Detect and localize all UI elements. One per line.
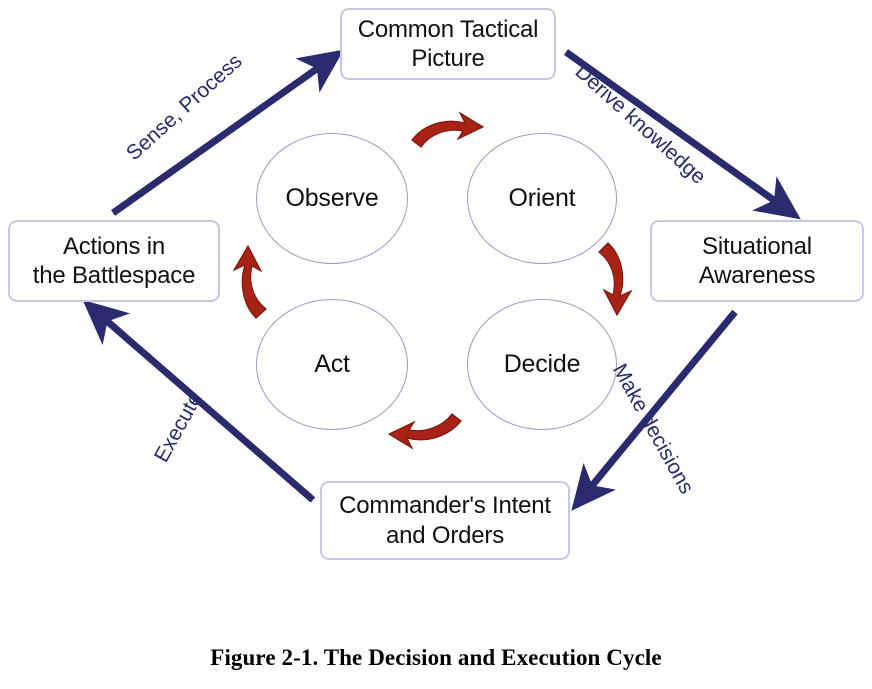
ooda-step-orient[interactable]: Orient xyxy=(467,133,617,264)
figure-caption: Figure 2-1. The Decision and Execution C… xyxy=(0,645,872,671)
decision-execution-cycle-figure: Common Tactical Picture Situational Awar… xyxy=(0,0,872,620)
ooda-step-label: Decide xyxy=(504,350,581,379)
node-situational-awareness[interactable]: Situational Awareness xyxy=(650,220,864,302)
ooda-step-observe[interactable]: Observe xyxy=(256,133,408,264)
ooda-step-label: Act xyxy=(314,350,350,379)
node-label: Actions in the Battlespace xyxy=(27,232,201,291)
node-label: Common Tactical Picture xyxy=(352,15,545,74)
ooda-step-label: Observe xyxy=(285,184,378,213)
node-label: Situational Awareness xyxy=(693,232,822,291)
red-arrow-act-to-observe xyxy=(234,246,266,318)
red-arrow-observe-to-orient xyxy=(412,113,483,147)
node-actions-in-the-battlespace[interactable]: Actions in the Battlespace xyxy=(8,220,220,302)
ooda-step-act[interactable]: Act xyxy=(256,299,408,430)
node-label: Commander's Intent and Orders xyxy=(333,491,557,550)
node-commanders-intent-and-orders[interactable]: Commander's Intent and Orders xyxy=(320,481,570,560)
red-arrow-decide-to-act xyxy=(389,414,461,448)
ooda-step-decide[interactable]: Decide xyxy=(467,299,617,430)
node-common-tactical-picture[interactable]: Common Tactical Picture xyxy=(340,8,556,80)
red-arrow-orient-to-decide xyxy=(599,243,631,315)
ooda-step-label: Orient xyxy=(509,184,576,213)
